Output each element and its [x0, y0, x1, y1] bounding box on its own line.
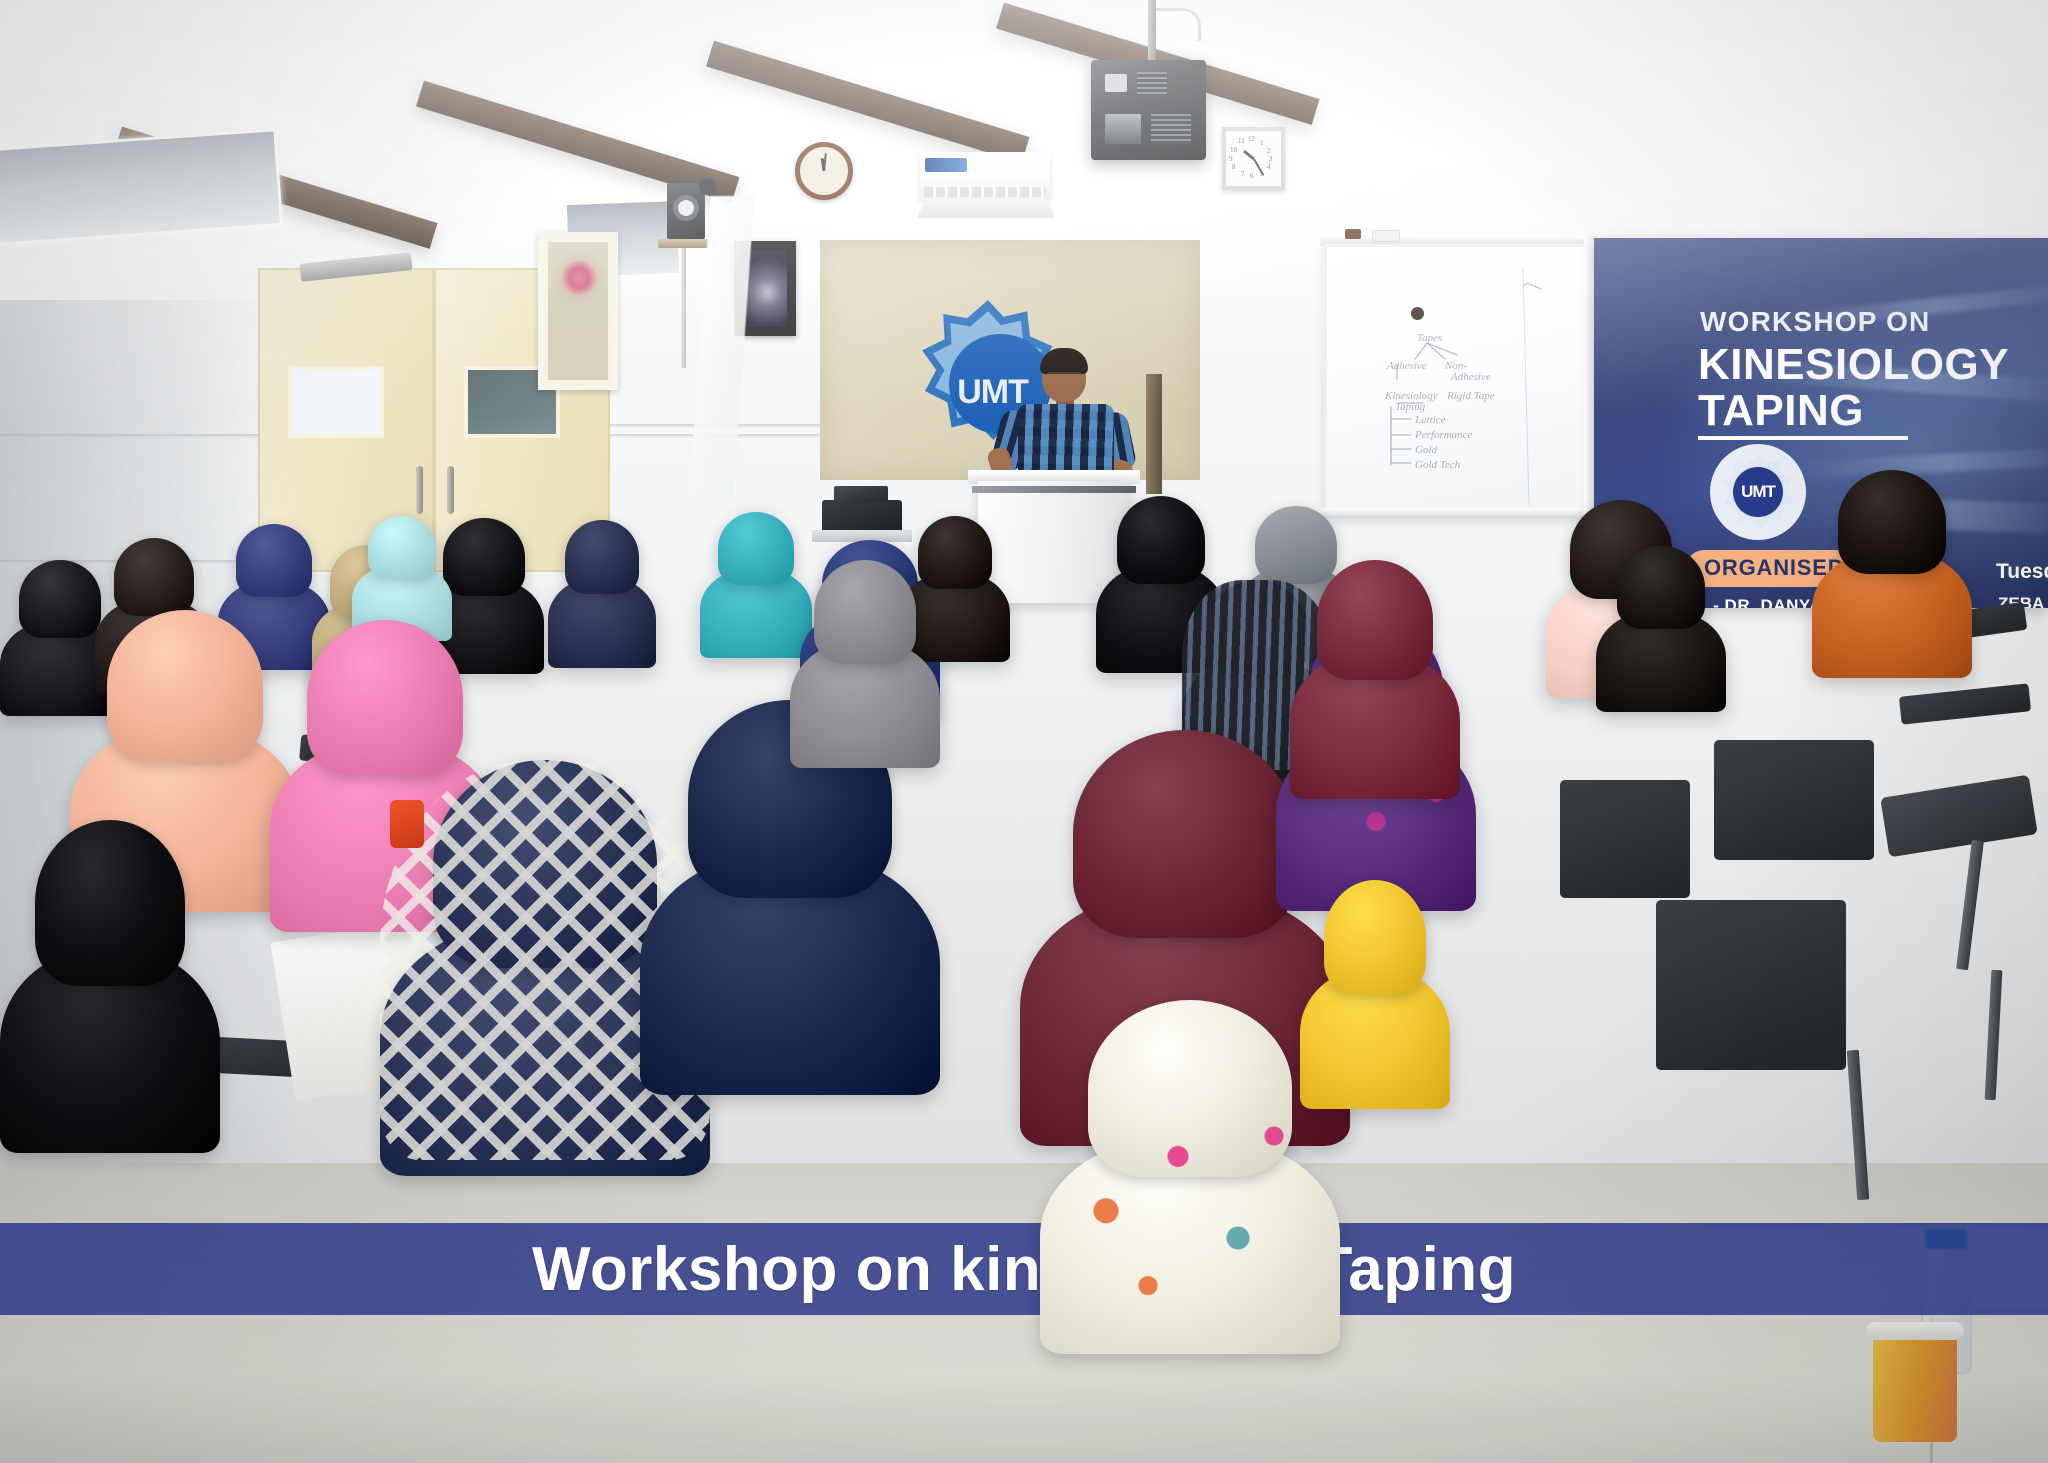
door-handle-right[interactable]	[447, 466, 454, 514]
banner-line-workshop-on: WORKSHOP ON	[1700, 306, 1930, 338]
wb-label-item3: Gold	[1415, 444, 1438, 456]
clock-number: 9	[1229, 155, 1233, 163]
round-wall-clock	[795, 142, 853, 200]
wb-label-item2: Performance	[1414, 429, 1473, 441]
whiteboard-diagram: Tapes Adhesive Non- Adhesive Kinesiology…	[1327, 247, 1599, 515]
projector-lens-icon	[1105, 74, 1127, 92]
attendee-orange-shirt-head	[1838, 470, 1947, 574]
paper-cup[interactable]	[1873, 1330, 1957, 1442]
wall-speaker-icon	[667, 183, 705, 239]
banner-line-taping: TAPING	[1698, 386, 1864, 436]
chair-back-2	[1714, 740, 1874, 860]
attendee-maroon-print	[1290, 560, 1460, 790]
speaker-cone-icon	[678, 200, 694, 216]
chair-back-3	[1656, 900, 1846, 1070]
attendee-grey-hijab-head	[814, 560, 916, 664]
clock-number: 4	[1267, 163, 1271, 171]
attendee-grey-hijab	[790, 560, 940, 760]
umt-wall-logo-text: UMT	[957, 373, 1028, 412]
wb-label-item1: Lattice	[1414, 414, 1446, 426]
attendee-teal-hijab-head	[718, 512, 794, 585]
framed-floral-painting	[538, 232, 618, 390]
projector-icon	[1091, 60, 1206, 160]
side-table-equipment-2	[834, 486, 888, 502]
chair-back-1	[1560, 780, 1690, 898]
attendee-navy-hijab-back	[548, 520, 656, 662]
attendee-navy-hijab-back-head	[565, 520, 638, 594]
attendee-black-abaya-head	[1117, 496, 1205, 584]
clock-minute-hand	[1253, 158, 1264, 175]
clock-number: 7	[1241, 170, 1245, 178]
eraser-icon[interactable]	[1372, 230, 1400, 242]
attendee-peach-hijab-head	[107, 610, 263, 761]
attendee-black-front-left	[0, 820, 220, 1140]
wb-label-root: Tapes	[1417, 332, 1442, 344]
attendee-pink-hijab-head	[307, 620, 463, 776]
clock-number: 10	[1230, 146, 1237, 154]
attendee-black-hijab-2-head	[443, 518, 525, 596]
whiteboard: Tapes Adhesive Non- Adhesive Kinesiology…	[1324, 244, 1602, 518]
attendee-mint-hijab	[352, 516, 452, 636]
floral-embroidery-overlay	[1040, 1000, 1340, 1340]
attendee-orange-shirt	[1812, 470, 1972, 670]
attendee-maroon-print-head	[1317, 560, 1433, 680]
door-window-left	[288, 366, 384, 438]
banner-day: Tuesday	[1996, 560, 2048, 584]
photo-stage: 12 1 2 3 4 5 6 7 8 9 10 11	[0, 0, 2048, 1463]
umt-seal-disc: UMT	[1733, 467, 1783, 517]
ac-vent-grille	[924, 187, 1046, 197]
attendee-navy-print-head	[236, 524, 312, 597]
hair-clip-icon	[390, 800, 424, 848]
umt-seal-text: UMT	[1741, 482, 1775, 502]
wb-label-item4: Gold Tech	[1415, 459, 1461, 471]
clock-number: 12	[1248, 135, 1255, 143]
clerestory-window-left	[0, 128, 283, 246]
clock-number: 6	[1250, 172, 1254, 180]
umt-seal-logo: UMT	[1710, 444, 1806, 540]
clock-number: 1	[1260, 139, 1264, 147]
clock-hour-hand	[1242, 149, 1254, 159]
attendee-black-front-left-head	[35, 820, 185, 986]
wb-label-adhesive: Adhesive	[1386, 360, 1427, 372]
attendee-mint-hijab-head	[368, 516, 436, 578]
projector-mount-rod	[1148, 0, 1156, 62]
marker-icon[interactable]	[1345, 229, 1361, 239]
backdrop-post	[1146, 374, 1162, 494]
attendee-dark-hair-3	[1596, 546, 1726, 706]
attendee-floral-white	[1040, 1000, 1340, 1340]
cup-rim	[1866, 1322, 1964, 1340]
whiteboard-knob	[1411, 307, 1424, 320]
clock-number: 2	[1267, 147, 1271, 155]
caption-text: Workshop on kinesiology Taping	[532, 1234, 1516, 1305]
painting-canvas	[548, 242, 608, 380]
microphone-ball-icon	[699, 178, 716, 195]
clock-minute-hand	[823, 153, 827, 171]
side-table-equipment	[822, 500, 902, 532]
projector-cable	[1150, 8, 1201, 41]
presenter-glasses-icon	[1046, 372, 1082, 383]
attendee-dark-hair-1-head	[114, 538, 194, 616]
wb-label-taping: Taping	[1395, 401, 1426, 413]
wb-label-rigid: Rigid Tape	[1446, 390, 1495, 402]
attendee-maroon-hijab-head	[1073, 730, 1297, 938]
ac-louver	[917, 198, 1055, 218]
banner-line-kinesiology: KINESIOLOGY	[1698, 340, 2009, 390]
banner-underline	[1698, 436, 1908, 440]
air-conditioner-unit	[920, 152, 1050, 200]
clock-number: 11	[1238, 137, 1245, 145]
projector-vent-1	[1137, 72, 1167, 94]
ac-badge-icon	[925, 158, 967, 172]
speaker-stand-pole	[681, 248, 686, 368]
square-wall-clock: 12 1 2 3 4 5 6 7 8 9 10 11	[1222, 127, 1285, 190]
projector-vent-2	[1105, 114, 1141, 144]
projector-vent-3	[1151, 114, 1191, 144]
door-handle-left[interactable]	[416, 466, 423, 514]
podium-stripe	[972, 486, 1136, 493]
caption-bar: Workshop on kinesiology Taping	[0, 1223, 2048, 1315]
clock-number: 3	[1269, 155, 1273, 163]
attendee-yellow-dupatta-head	[1324, 880, 1426, 994]
wb-label-nonadhesive2: Adhesive	[1450, 371, 1491, 383]
clock-number: 8	[1232, 163, 1236, 171]
attendee-dark-hair-3-head	[1617, 546, 1705, 629]
